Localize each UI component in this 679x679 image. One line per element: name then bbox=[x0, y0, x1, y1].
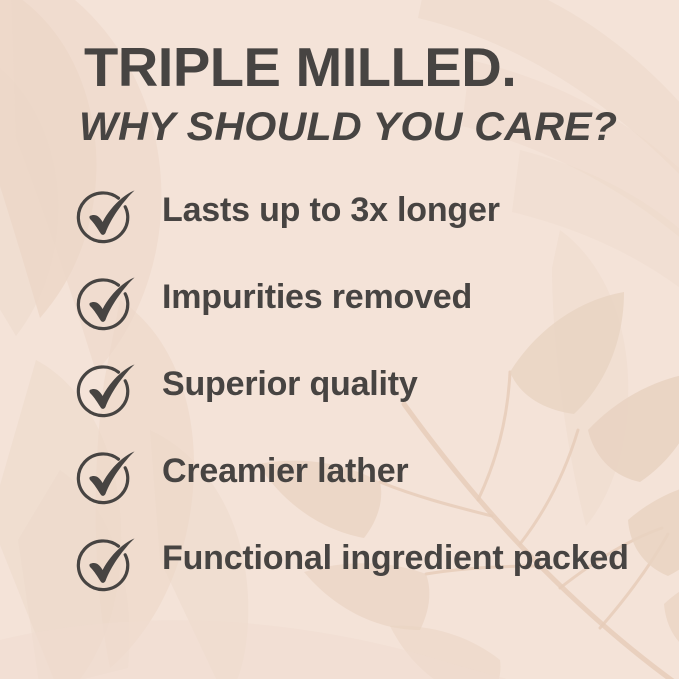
check-circle-icon bbox=[74, 534, 140, 596]
check-circle-icon bbox=[74, 186, 140, 248]
benefit-list: Lasts up to 3x longer Impurities removed… bbox=[0, 186, 679, 621]
check-circle-icon bbox=[74, 447, 140, 509]
list-item-label: Lasts up to 3x longer bbox=[162, 188, 632, 232]
page-subtitle: WHY SHOULD YOU CARE? bbox=[79, 107, 617, 147]
list-item-label: Functional ingredient packed bbox=[162, 536, 632, 580]
list-item: Functional ingredient packed bbox=[0, 534, 679, 621]
triple-milled-infographic: TRIPLE MILLED. WHY SHOULD YOU CARE? Last… bbox=[0, 0, 679, 679]
list-item-label: Creamier lather bbox=[162, 449, 632, 493]
list-item: Creamier lather bbox=[0, 447, 679, 534]
check-circle-icon bbox=[74, 273, 140, 335]
list-item-label: Superior quality bbox=[162, 362, 632, 406]
list-item: Superior quality bbox=[0, 360, 679, 447]
check-circle-icon bbox=[74, 360, 140, 422]
list-item: Lasts up to 3x longer bbox=[0, 186, 679, 273]
page-title: TRIPLE MILLED. bbox=[84, 40, 516, 95]
list-item-label: Impurities removed bbox=[162, 275, 632, 319]
list-item: Impurities removed bbox=[0, 273, 679, 360]
